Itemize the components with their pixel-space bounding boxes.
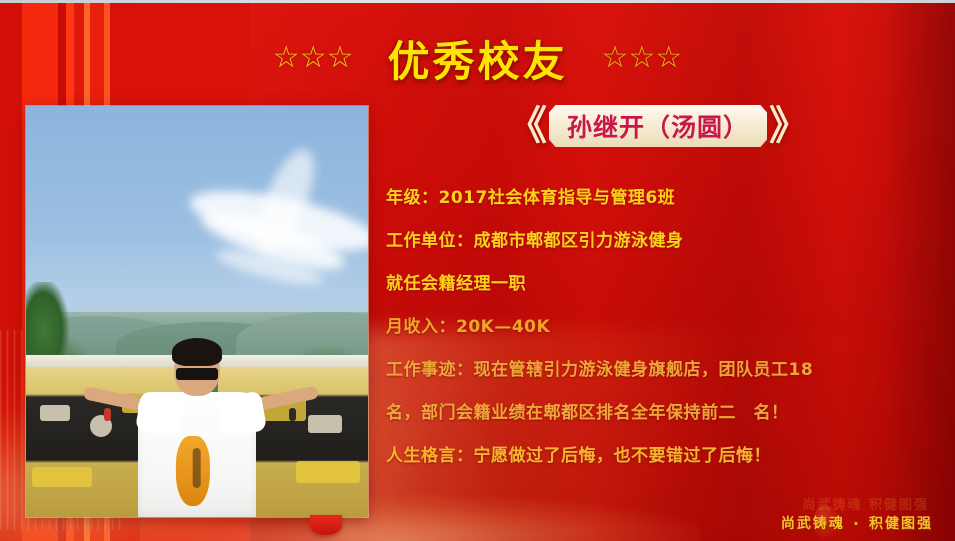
bracket-left-icon: 《	[505, 106, 549, 146]
photo-graffiti	[40, 405, 70, 421]
slogan: 尚武铸魂 · 积健图强	[781, 513, 933, 533]
photo-person-watch	[289, 408, 296, 421]
alumnus-name: 孙继开（汤圆）	[567, 108, 749, 144]
slogan-right-text: 积健图强	[869, 513, 933, 533]
alumnus-photo	[26, 106, 368, 517]
info-line-grade: 年级：2017社会体育指导与管理6班	[386, 190, 946, 207]
photo-person-sleeve	[135, 390, 185, 437]
info-line-motto: 人生格言：宁愿做过了后悔，也不要错过了后悔！	[386, 448, 946, 465]
info-line-income: 月收入：20K—40K	[386, 319, 946, 336]
info-line-achievement-2: 名，部门会籍业绩在郫都区排名全年保持前二 名！	[386, 405, 946, 422]
bracket-right-icon: 》	[767, 106, 811, 146]
photo-person-hair	[172, 338, 222, 366]
alumnus-info: 年级：2017社会体育指导与管理6班 工作单位：成都市郫都区引力游泳健身 就任会…	[386, 190, 946, 491]
name-banner: 《 孙继开（汤圆） 》	[505, 105, 811, 147]
decorative-bowl	[310, 515, 342, 535]
photo-graffiti	[296, 461, 360, 483]
slogan-ghost: 尚武铸魂 积健图强	[802, 494, 929, 513]
info-line-employer: 工作单位：成都市郫都区引力游泳健身	[386, 233, 946, 250]
photo-graffiti	[308, 415, 342, 433]
top-edge-strip	[0, 0, 955, 3]
slide-root: ☆☆☆ 优秀校友 ☆☆☆ 《 孙继开（汤圆） 》	[0, 0, 955, 541]
photo-person-shirt-print-detail	[193, 448, 201, 488]
info-line-achievement-1: 工作事迹：现在管辖引力游泳健身旗舰店，团队员工18	[386, 362, 946, 379]
info-line-position: 就任会籍经理一职	[386, 276, 946, 293]
sunglasses-icon	[176, 368, 218, 380]
photo-person-bracelet	[104, 408, 111, 421]
photo-barrier-cap-left	[26, 355, 184, 367]
photo-graffiti	[32, 467, 92, 487]
photo-barrier-cap-right	[218, 355, 368, 367]
name-plate: 孙继开（汤圆）	[549, 105, 767, 147]
slogan-separator-icon: ·	[853, 514, 861, 533]
slogan-left-text: 尚武铸魂	[781, 513, 845, 533]
photo-person-sleeve	[217, 390, 267, 437]
